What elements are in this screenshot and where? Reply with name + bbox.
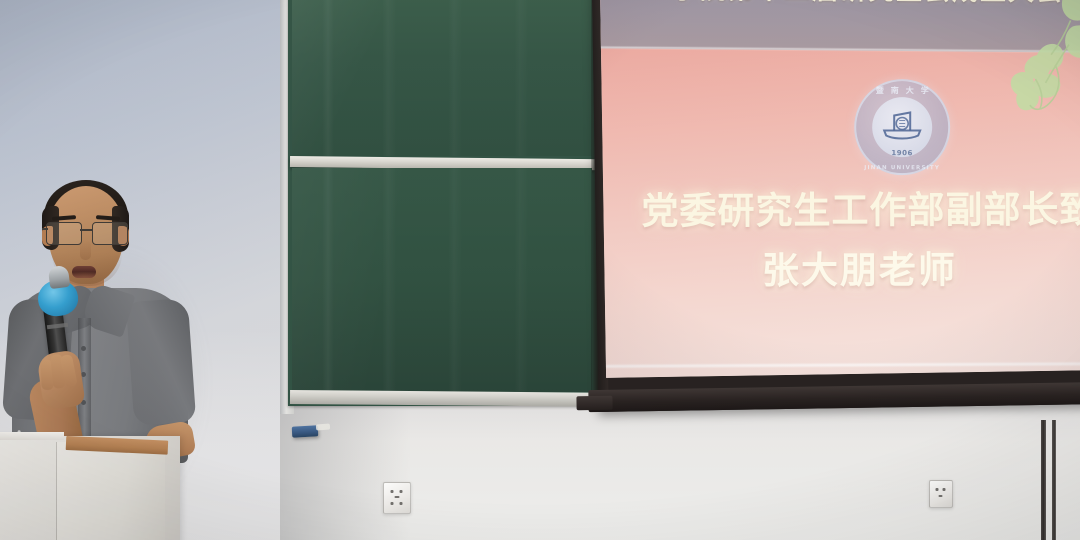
logo-boat-icon <box>880 109 924 143</box>
screen-bar-lip <box>576 396 612 411</box>
glasses-lens-right <box>92 222 128 245</box>
screen-stand-post-left <box>1041 420 1046 540</box>
logo-founding-year: 1906 <box>856 149 948 157</box>
wall-outlet-left[interactable] <box>383 482 411 514</box>
wall-outlet-right[interactable] <box>929 480 953 508</box>
outlet-holes-left <box>391 490 404 506</box>
blackboard-chalk-tray <box>290 390 598 407</box>
screen-stand-post-right <box>1052 420 1056 540</box>
glasses-lens-left <box>46 222 82 245</box>
slide-line-two: 张大朋老师 <box>604 239 1080 295</box>
shirt-button-1 <box>81 346 86 351</box>
glasses-temple-arm <box>42 228 48 230</box>
chalk-piece[interactable] <box>316 424 330 431</box>
projection-screen: 学院第十二届研究生会成立大会 暨南大学 1906 JINAN UNIVERSIT… <box>592 0 1080 412</box>
university-logo: 暨南大学 1906 JINAN UNIVERSITY <box>854 79 946 171</box>
blackboard-lower-panel <box>292 168 592 392</box>
speaker-right-sleeve <box>126 298 196 426</box>
projected-slide: 学院第十二届研究生会成立大会 暨南大学 1906 JINAN UNIVERSIT… <box>600 0 1080 378</box>
logo-english-name: JINAN UNIVERSITY <box>856 165 948 171</box>
blackboard-upper-panel <box>292 0 592 156</box>
lectern-top-edge <box>0 432 64 440</box>
blackboard <box>288 0 600 406</box>
blackboard-surface <box>288 0 600 406</box>
slide-line-one: 党委研究生工作部副部长致辞 <box>603 179 1080 235</box>
blackboard-chalk-streaks-lower <box>292 168 592 392</box>
photo-scene: 学院第十二届研究生会成立大会 暨南大学 1906 JINAN UNIVERSIT… <box>0 0 1080 540</box>
logo-chinese-name: 暨南大学 <box>856 85 948 96</box>
lectern-front-face <box>56 442 165 540</box>
blackboard-chalk-streaks <box>292 0 592 156</box>
glasses-bridge <box>80 229 92 231</box>
speaker-hand-holding-mic <box>36 349 85 410</box>
leaf-decoration-icon <box>968 0 1080 128</box>
outlet-holes-right <box>935 486 948 502</box>
